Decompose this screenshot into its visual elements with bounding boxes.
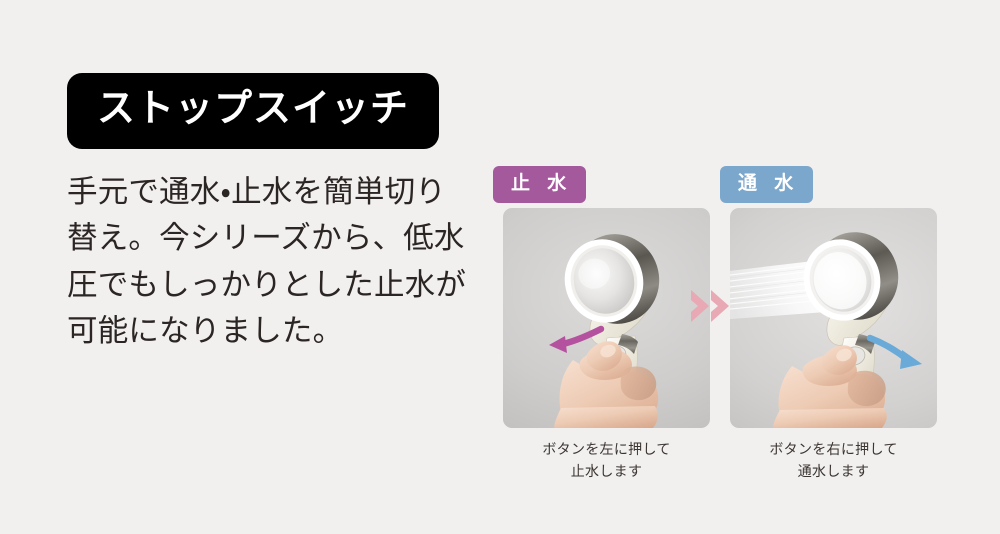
photo-panel-stop (503, 208, 710, 428)
caption-stop-line1: ボタンを左に押して (503, 439, 710, 461)
page-title: ストップスイッチ (67, 73, 439, 149)
slide-root: ストップスイッチ 手元で通水・止水を簡単切り替え。今シリーズから、低水圧でもしっ… (0, 0, 1000, 534)
caption-flow: ボタンを右に押して 通水します (730, 439, 937, 482)
comparison-photos: 止 水 (490, 166, 950, 496)
arrow-right-blue (870, 338, 922, 369)
double-chevron-right-icon (689, 286, 733, 326)
caption-flow-line2: 通水します (730, 461, 937, 483)
photo-panel-flow (730, 208, 937, 428)
caption-stop-line2: 止水します (503, 461, 710, 483)
text-column: ストップスイッチ 手元で通水・止水を簡単切り替え。今シリーズから、低水圧でもしっ… (67, 73, 477, 354)
status-badge-stop: 止 水 (493, 166, 586, 203)
caption-flow-line1: ボタンを右に押して (730, 439, 937, 461)
shower-head-flow-illustration (730, 208, 937, 428)
status-badge-flow: 通 水 (720, 166, 813, 203)
body-description: 手元で通水・止水を簡単切り替え。今シリーズから、低水圧でもしっかりとした止水が可… (67, 169, 467, 354)
shower-head-stop-illustration (503, 208, 710, 428)
caption-stop: ボタンを左に押して 止水します (503, 439, 710, 482)
